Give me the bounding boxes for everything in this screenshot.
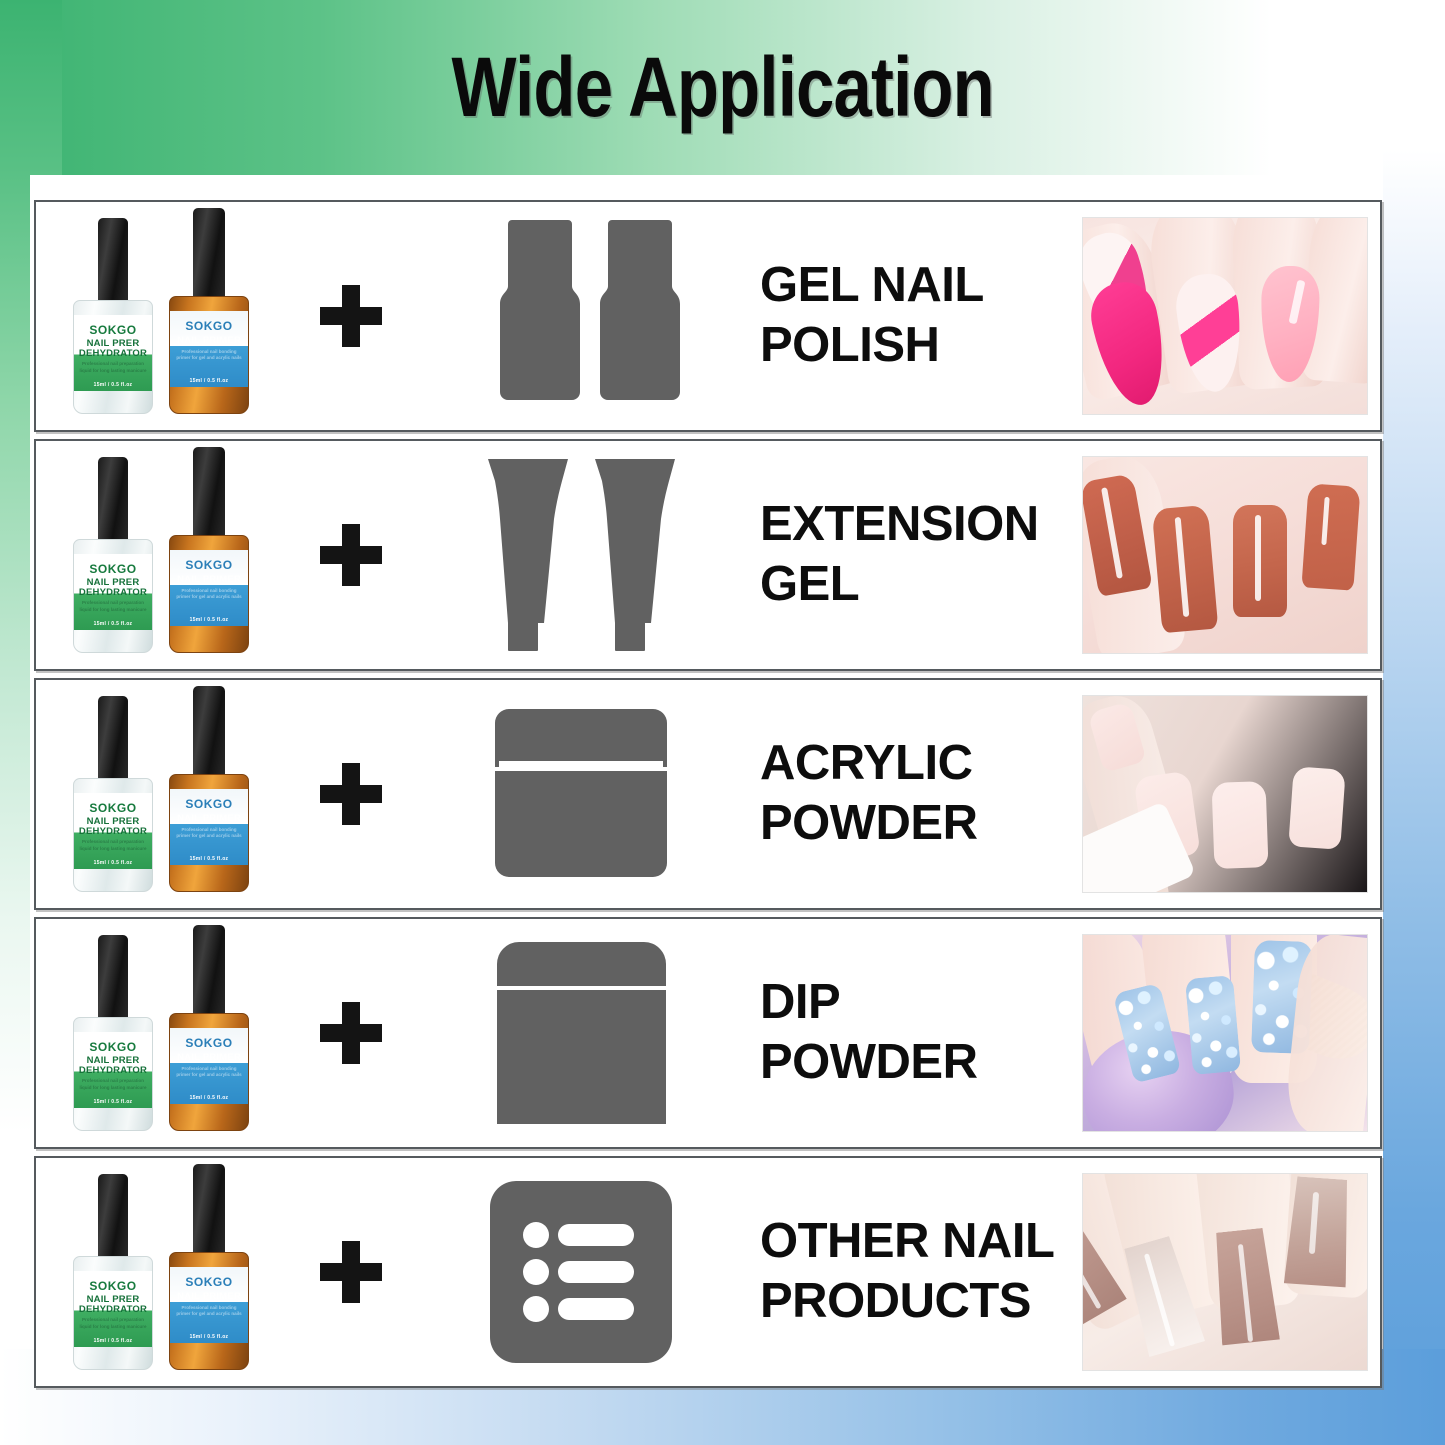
product-name: NAIL PRIMER: [177, 1292, 241, 1302]
brand-name: SOKGO: [89, 1032, 136, 1053]
plus-sign: [286, 285, 416, 347]
label-volume: 15ml / 0.5 fl.oz: [74, 383, 152, 388]
label-volume: 15ml / 0.5 fl.oz: [170, 618, 248, 623]
pink-geometric-almond-nails-photo: [1082, 217, 1368, 415]
caption-line1: GEL NAIL: [760, 256, 1080, 316]
bottle-glass: SOKGO NAIL PRIMER Professional nail bond…: [169, 296, 249, 414]
label-fine-print: Professional nail preparation liquid for…: [79, 1078, 146, 1092]
plus-icon: [320, 1241, 382, 1303]
product-name-line1: NAIL PRIMER: [177, 1053, 241, 1063]
bottle-glass: SOKGO NAIL PRIMER Professional nail bond…: [169, 1013, 249, 1131]
caption-line2: POLISH: [760, 316, 1080, 376]
product-name: NAIL PRER DEHYDRATOR: [79, 578, 147, 597]
bottle-label: SOKGO NAIL PRER DEHYDRATOR Professional …: [74, 315, 152, 391]
caption-line2: GEL: [760, 555, 1080, 615]
label-fine-print: Professional nail bonding primer for gel…: [175, 588, 242, 602]
bottle-cap-icon: [193, 925, 225, 1025]
brand-name: SOKGO: [185, 311, 232, 332]
nail-photo-area: [1080, 202, 1380, 430]
bottle-cap-icon: [193, 447, 225, 547]
plus-sign: [286, 1002, 416, 1064]
label-volume: 15ml / 0.5 fl.oz: [170, 1096, 248, 1101]
application-rows: SOKGO NAIL PRER DEHYDRATOR Professional …: [34, 200, 1382, 1388]
product-name: NAIL PRIMER: [177, 336, 241, 346]
product-name: NAIL PRIMER: [177, 814, 241, 824]
product-bottle-pair: SOKGO NAIL PRER DEHYDRATOR Professional …: [36, 441, 286, 669]
product-bottle-pair: SOKGO NAIL PRER DEHYDRATOR Professional …: [36, 202, 286, 430]
caption-line1: ACRYLIC: [760, 734, 1080, 794]
gel-polish-bottles-icon: [476, 216, 686, 416]
mauve-shimmer-coffin-nails-photo: [1082, 1173, 1368, 1371]
plus-icon: [320, 524, 382, 586]
bottle-glass: SOKGO NAIL PRER DEHYDRATOR Professional …: [73, 778, 153, 892]
row-caption: EXTENSION GEL: [746, 495, 1080, 615]
bottle-label: SOKGO NAIL PRER DEHYDRATOR Professional …: [74, 1032, 152, 1108]
label-volume: 15ml / 0.5 fl.oz: [74, 861, 152, 866]
bottle-glass: SOKGO NAIL PRER DEHYDRATOR Professional …: [73, 1017, 153, 1131]
label-fine-print: Professional nail preparation liquid for…: [79, 839, 146, 853]
product-name-line1: NAIL PRIMER: [177, 814, 241, 824]
product-icon-area: [416, 1158, 746, 1386]
product-name-line2: DEHYDRATOR: [79, 349, 147, 359]
product-name: NAIL PRER DEHYDRATOR: [79, 339, 147, 358]
product-name: NAIL PRER DEHYDRATOR: [79, 1295, 147, 1314]
nail-dehydrator-bottle: SOKGO NAIL PRER DEHYDRATOR Professional …: [71, 935, 155, 1131]
bottle-cap-icon: [193, 686, 225, 786]
plus-sign: [286, 1241, 416, 1303]
brand-name: SOKGO: [185, 1028, 232, 1049]
infographic-page: Wide Application SOKGO NAIL PRER DEHYDRA…: [0, 0, 1445, 1445]
caption-line1: DIP: [760, 973, 1080, 1033]
page-title: Wide Application: [451, 39, 993, 136]
nail-primer-bottle: SOKGO NAIL PRIMER Professional nail bond…: [167, 925, 251, 1131]
label-fine-print: Professional nail preparation liquid for…: [79, 600, 146, 614]
application-row-extension-gel: SOKGO NAIL PRER DEHYDRATOR Professional …: [34, 439, 1382, 671]
caption-line2: PRODUCTS: [760, 1272, 1080, 1332]
product-name: NAIL PRER DEHYDRATOR: [79, 817, 147, 836]
nail-primer-bottle: SOKGO NAIL PRIMER Professional nail bond…: [167, 686, 251, 892]
brand-name: SOKGO: [89, 793, 136, 814]
nail-photo-area: [1080, 919, 1380, 1147]
nail-dehydrator-bottle: SOKGO NAIL PRER DEHYDRATOR Professional …: [71, 218, 155, 414]
nail-photo-area: [1080, 441, 1380, 669]
plus-icon: [320, 1002, 382, 1064]
label-fine-print: Professional nail preparation liquid for…: [79, 1317, 146, 1331]
caption-line1: OTHER NAIL: [760, 1212, 1080, 1272]
product-name-line1: NAIL PRIMER: [177, 1292, 241, 1302]
label-volume: 15ml / 0.5 fl.oz: [74, 1100, 152, 1105]
bottle-label: SOKGO NAIL PRIMER Professional nail bond…: [170, 311, 248, 387]
label-volume: 15ml / 0.5 fl.oz: [74, 1339, 152, 1344]
label-fine-print: Professional nail bonding primer for gel…: [175, 1066, 242, 1080]
bottle-cap-icon: [98, 218, 128, 310]
bottle-label: SOKGO NAIL PRER DEHYDRATOR Professional …: [74, 1271, 152, 1347]
caption-line2: POWDER: [760, 794, 1080, 854]
page-header: Wide Application: [0, 0, 1445, 175]
product-name-line2: DEHYDRATOR: [79, 1305, 147, 1315]
bottle-glass: SOKGO NAIL PRER DEHYDRATOR Professional …: [73, 1256, 153, 1370]
bottle-glass: SOKGO NAIL PRIMER Professional nail bond…: [169, 1252, 249, 1370]
row-caption: DIP POWDER: [746, 973, 1080, 1093]
plus-sign: [286, 763, 416, 825]
product-bottle-pair: SOKGO NAIL PRER DEHYDRATOR Professional …: [36, 1158, 286, 1386]
bottle-label: SOKGO NAIL PRIMER Professional nail bond…: [170, 789, 248, 865]
brand-name: SOKGO: [89, 1271, 136, 1292]
label-fine-print: Professional nail bonding primer for gel…: [175, 1305, 242, 1319]
application-row-other-nail-products: SOKGO NAIL PRER DEHYDRATOR Professional …: [34, 1156, 1382, 1388]
label-fine-print: Professional nail bonding primer for gel…: [175, 349, 242, 363]
blue-glitter-nails-photo: [1082, 934, 1368, 1132]
bottle-glass: SOKGO NAIL PRER DEHYDRATOR Professional …: [73, 300, 153, 414]
product-name-line2: DEHYDRATOR: [79, 588, 147, 598]
application-row-dip-powder: SOKGO NAIL PRER DEHYDRATOR Professional …: [34, 917, 1382, 1149]
product-name: NAIL PRER DEHYDRATOR: [79, 1056, 147, 1075]
bottle-cap-icon: [193, 208, 225, 308]
bottle-glass: SOKGO NAIL PRER DEHYDRATOR Professional …: [73, 539, 153, 653]
product-icon-area: [416, 441, 746, 669]
dip-powder-jar-icon: [489, 938, 674, 1128]
label-volume: 15ml / 0.5 fl.oz: [170, 379, 248, 384]
product-name-line1: NAIL PRIMER: [177, 336, 241, 346]
product-name-line1: NAIL PRIMER: [177, 575, 241, 585]
product-icon-area: [416, 919, 746, 1147]
label-fine-print: Professional nail preparation liquid for…: [79, 361, 146, 375]
bottle-glass: SOKGO NAIL PRIMER Professional nail bond…: [169, 535, 249, 653]
product-name: NAIL PRIMER: [177, 575, 241, 585]
caption-line1: EXTENSION: [760, 495, 1080, 555]
label-volume: 15ml / 0.5 fl.oz: [170, 1335, 248, 1340]
bottle-label: SOKGO NAIL PRIMER Professional nail bond…: [170, 550, 248, 626]
product-bottle-pair: SOKGO NAIL PRER DEHYDRATOR Professional …: [36, 919, 286, 1147]
nail-photo-area: [1080, 680, 1380, 908]
brand-name: SOKGO: [185, 550, 232, 571]
bottle-cap-icon: [98, 696, 128, 788]
bottle-cap-icon: [98, 935, 128, 1027]
bottle-label: SOKGO NAIL PRIMER Professional nail bond…: [170, 1028, 248, 1104]
bottle-label: SOKGO NAIL PRER DEHYDRATOR Professional …: [74, 554, 152, 630]
nude-squoval-nails-photo: [1082, 695, 1368, 893]
plus-icon: [320, 763, 382, 825]
nail-primer-bottle: SOKGO NAIL PRIMER Professional nail bond…: [167, 447, 251, 653]
coral-long-square-nails-photo: [1082, 456, 1368, 654]
acrylic-powder-jar-icon: [481, 705, 681, 883]
application-row-gel-nail-polish: SOKGO NAIL PRER DEHYDRATOR Professional …: [34, 200, 1382, 432]
label-volume: 15ml / 0.5 fl.oz: [74, 622, 152, 627]
application-row-acrylic-powder: SOKGO NAIL PRER DEHYDRATOR Professional …: [34, 678, 1382, 910]
other-products-list-icon: [488, 1179, 674, 1365]
bottle-cap-icon: [193, 1164, 225, 1264]
label-volume: 15ml / 0.5 fl.oz: [170, 857, 248, 862]
row-caption: ACRYLIC POWDER: [746, 734, 1080, 854]
bottle-label: SOKGO NAIL PRER DEHYDRATOR Professional …: [74, 793, 152, 869]
nail-primer-bottle: SOKGO NAIL PRIMER Professional nail bond…: [167, 208, 251, 414]
brand-name: SOKGO: [89, 554, 136, 575]
product-icon-area: [416, 202, 746, 430]
label-fine-print: Professional nail bonding primer for gel…: [175, 827, 242, 841]
bottle-cap-icon: [98, 457, 128, 549]
bottle-cap-icon: [98, 1174, 128, 1266]
row-caption: OTHER NAIL PRODUCTS: [746, 1212, 1080, 1332]
nail-dehydrator-bottle: SOKGO NAIL PRER DEHYDRATOR Professional …: [71, 696, 155, 892]
product-bottle-pair: SOKGO NAIL PRER DEHYDRATOR Professional …: [36, 680, 286, 908]
brand-name: SOKGO: [185, 789, 232, 810]
plus-icon: [320, 285, 382, 347]
right-blue-gradient-strip: [1383, 150, 1445, 1445]
row-caption: GEL NAIL POLISH: [746, 256, 1080, 376]
plus-sign: [286, 524, 416, 586]
caption-line2: POWDER: [760, 1033, 1080, 1093]
bottle-label: SOKGO NAIL PRIMER Professional nail bond…: [170, 1267, 248, 1343]
nail-dehydrator-bottle: SOKGO NAIL PRER DEHYDRATOR Professional …: [71, 1174, 155, 1370]
product-name: NAIL PRIMER: [177, 1053, 241, 1063]
brand-name: SOKGO: [185, 1267, 232, 1288]
bottle-glass: SOKGO NAIL PRIMER Professional nail bond…: [169, 774, 249, 892]
nail-photo-area: [1080, 1158, 1380, 1386]
nail-dehydrator-bottle: SOKGO NAIL PRER DEHYDRATOR Professional …: [71, 457, 155, 653]
product-name-line2: DEHYDRATOR: [79, 1066, 147, 1076]
extension-gel-tubes-icon: [474, 455, 689, 655]
nail-primer-bottle: SOKGO NAIL PRIMER Professional nail bond…: [167, 1164, 251, 1370]
brand-name: SOKGO: [89, 315, 136, 336]
product-name-line2: DEHYDRATOR: [79, 827, 147, 837]
product-icon-area: [416, 680, 746, 908]
